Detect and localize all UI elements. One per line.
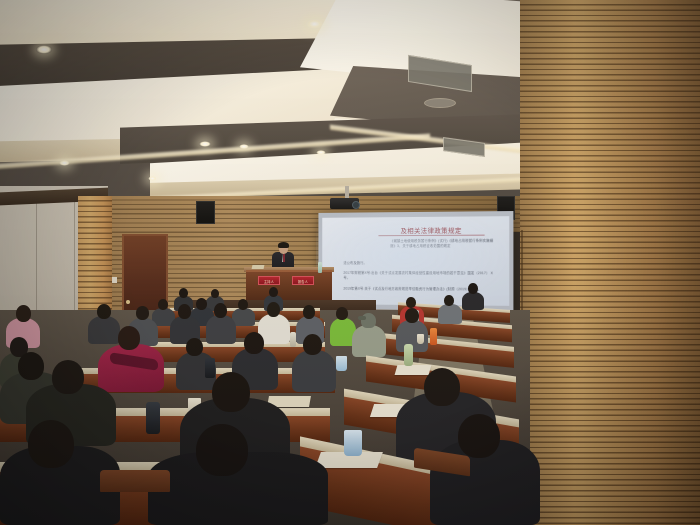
slide-text-block: 2017年财税第X号:出台《关于试点发展农村集体经营性建设用地市场的若干意见》国… bbox=[343, 271, 494, 281]
thermos-flask bbox=[146, 402, 160, 434]
name-placard-text: 主持人 bbox=[259, 279, 279, 284]
cap-brim bbox=[358, 316, 366, 320]
wood-wall-shading bbox=[520, 0, 700, 525]
presenter-tie bbox=[283, 254, 285, 262]
notebook-paper bbox=[395, 365, 432, 375]
lecture-hall-photo: 及相关法律政策规定 《城镇土地使用税务暂行条例》(试行)《耕地占用税暂行条例实施… bbox=[0, 0, 700, 525]
slide-text-block: 法公布及施行。 bbox=[343, 261, 492, 266]
name-placard-text: 报告人 bbox=[293, 279, 313, 284]
slide-text-block: 《城镇土地使用税务暂行条例》(试行)《耕地占用税暂行条例实施细则》3、关于耕地占… bbox=[390, 239, 496, 249]
light-switch[interactable] bbox=[112, 277, 117, 283]
presenter-hair bbox=[278, 242, 289, 248]
recessed-downlight bbox=[306, 19, 323, 29]
door-handle[interactable] bbox=[126, 300, 130, 304]
thermos-flask bbox=[205, 358, 215, 378]
name-placard: 报告人 bbox=[292, 276, 314, 285]
recessed-downlight bbox=[36, 45, 52, 54]
slide-title-underline bbox=[378, 235, 484, 237]
recessed-downlight bbox=[199, 141, 211, 147]
recessed-downlight bbox=[239, 144, 249, 149]
name-placard: 主持人 bbox=[258, 276, 280, 285]
chair bbox=[100, 470, 170, 492]
wall-speaker-left bbox=[196, 201, 215, 224]
tea-bottle bbox=[404, 344, 413, 366]
ceiling-diffuser bbox=[424, 98, 456, 108]
documents bbox=[252, 265, 265, 269]
paper-cup bbox=[344, 430, 362, 456]
recessed-downlight bbox=[316, 150, 326, 155]
paper-cup bbox=[336, 356, 347, 371]
water-bottle bbox=[318, 262, 322, 273]
thermos-flask bbox=[290, 332, 296, 347]
paper-cup bbox=[417, 334, 424, 344]
orange-thermos bbox=[430, 328, 437, 345]
recessed-downlight bbox=[59, 160, 70, 166]
projector-lens-icon bbox=[352, 201, 360, 209]
recessed-downlight bbox=[148, 176, 157, 181]
projection-screen: 及相关法律政策规定 《城镇土地使用税务暂行条例》(试行)《耕地占用税暂行条例实施… bbox=[318, 211, 513, 311]
slide: 及相关法律政策规定 《城镇土地使用税务暂行条例》(试行)《耕地占用税暂行条例实施… bbox=[322, 216, 509, 306]
